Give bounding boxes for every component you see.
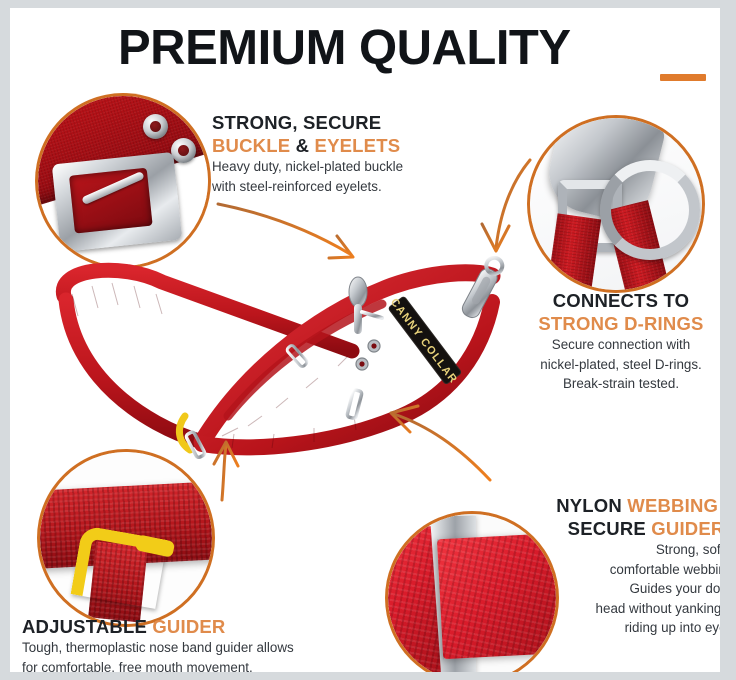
feature-nylon-body: Strong, soft & comfortable webbing. Guid…	[515, 540, 720, 638]
feature-buckle-heading: STRONG, SECURE BUCKLE & EYELETS	[212, 111, 458, 157]
photo-d-rings	[530, 118, 702, 290]
feature-buckle-text: STRONG, SECURE BUCKLE & EYELETS Heavy du…	[212, 111, 458, 196]
d-ring-round	[600, 160, 700, 260]
page-title: PREMIUM QUALITY	[118, 22, 718, 74]
product-photo-canny-collar: CANNY COLLAR	[52, 256, 552, 466]
feature-nylon-heading: NYLON WEBBING & SECURE GUIDERS	[515, 494, 720, 540]
feature-buckle-body: Heavy duty, nickel-plated buckle with st…	[212, 157, 458, 196]
feature-guider-body: Tough, thermoplastic nose band guider al…	[22, 638, 372, 672]
product-brand-label: CANNY COLLAR	[388, 296, 460, 386]
arrow-to-clip	[482, 160, 530, 251]
feature-guider-heading: ADJUSTABLE GUIDER	[22, 615, 372, 638]
photo-adjustable-guider	[40, 452, 212, 624]
infographic-page: PREMIUM QUALITY STRONG, SECURE BUCKLE & …	[0, 0, 736, 680]
eyelet-icon	[171, 138, 196, 163]
arrow-to-buckle-area	[218, 204, 353, 258]
feature-nylon-text: NYLON WEBBING & SECURE GUIDERS Strong, s…	[515, 494, 720, 638]
metal-buckle	[52, 152, 183, 252]
eyelet-icon	[143, 114, 168, 139]
feature-guider-text: ADJUSTABLE GUIDER Tough, thermoplastic n…	[22, 615, 372, 672]
title-accent-rule	[660, 74, 706, 81]
content-card: PREMIUM QUALITY STRONG, SECURE BUCKLE & …	[10, 8, 720, 672]
photo-buckle-eyelets	[38, 96, 208, 266]
